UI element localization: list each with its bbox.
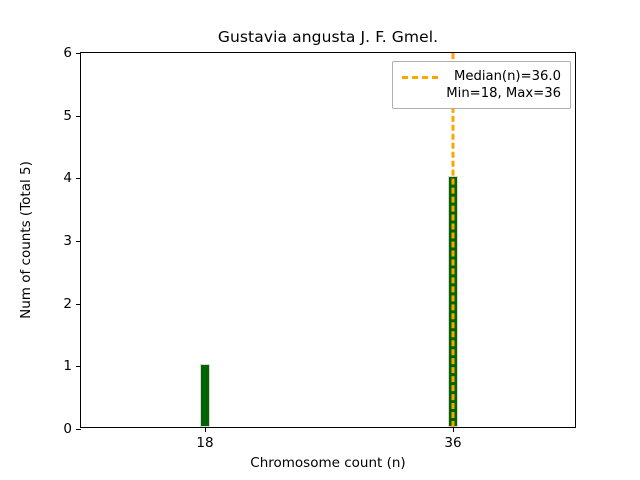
plot-area: 01234561836 Median(n)=36.0 Min=18, Max=3… bbox=[80, 52, 576, 428]
y-axis-tick-label: 4 bbox=[63, 170, 72, 186]
x-axis-tick bbox=[453, 427, 454, 432]
y-axis-tick bbox=[76, 116, 81, 117]
y-axis-tick bbox=[76, 178, 81, 179]
y-axis-tick bbox=[76, 429, 81, 430]
legend-minmax-label: Min=18, Max=36 bbox=[446, 85, 561, 102]
figure-canvas: Gustavia angusta J. F. Gmel. Num of coun… bbox=[0, 0, 640, 480]
legend-median-label: Median(n)=36.0 bbox=[446, 68, 561, 85]
legend: Median(n)=36.0 Min=18, Max=36 bbox=[392, 61, 571, 109]
y-axis-tick-label: 0 bbox=[63, 421, 72, 437]
y-axis-tick-label: 6 bbox=[63, 45, 72, 61]
y-axis-tick bbox=[76, 53, 81, 54]
y-axis-tick bbox=[76, 304, 81, 305]
bar bbox=[200, 364, 210, 427]
chart-title: Gustavia angusta J. F. Gmel. bbox=[80, 28, 576, 46]
y-axis-tick bbox=[76, 241, 81, 242]
x-axis-tick-label: 36 bbox=[444, 435, 461, 451]
y-axis-tick bbox=[76, 366, 81, 367]
legend-median-line-icon bbox=[402, 76, 438, 79]
x-axis-tick bbox=[205, 427, 206, 432]
y-axis-label: Num of counts (Total 5) bbox=[18, 161, 34, 319]
legend-text-block: Median(n)=36.0 Min=18, Max=36 bbox=[446, 68, 561, 102]
plot-inner: 01234561836 bbox=[81, 53, 575, 427]
median-line bbox=[452, 53, 455, 427]
x-axis-tick-label: 18 bbox=[196, 435, 213, 451]
y-axis-tick-label: 3 bbox=[63, 233, 72, 249]
y-axis-tick-label: 5 bbox=[63, 108, 72, 124]
y-axis-tick-label: 2 bbox=[63, 296, 72, 312]
x-axis-label: Chromosome count (n) bbox=[80, 455, 576, 471]
y-axis-tick-label: 1 bbox=[63, 358, 72, 374]
